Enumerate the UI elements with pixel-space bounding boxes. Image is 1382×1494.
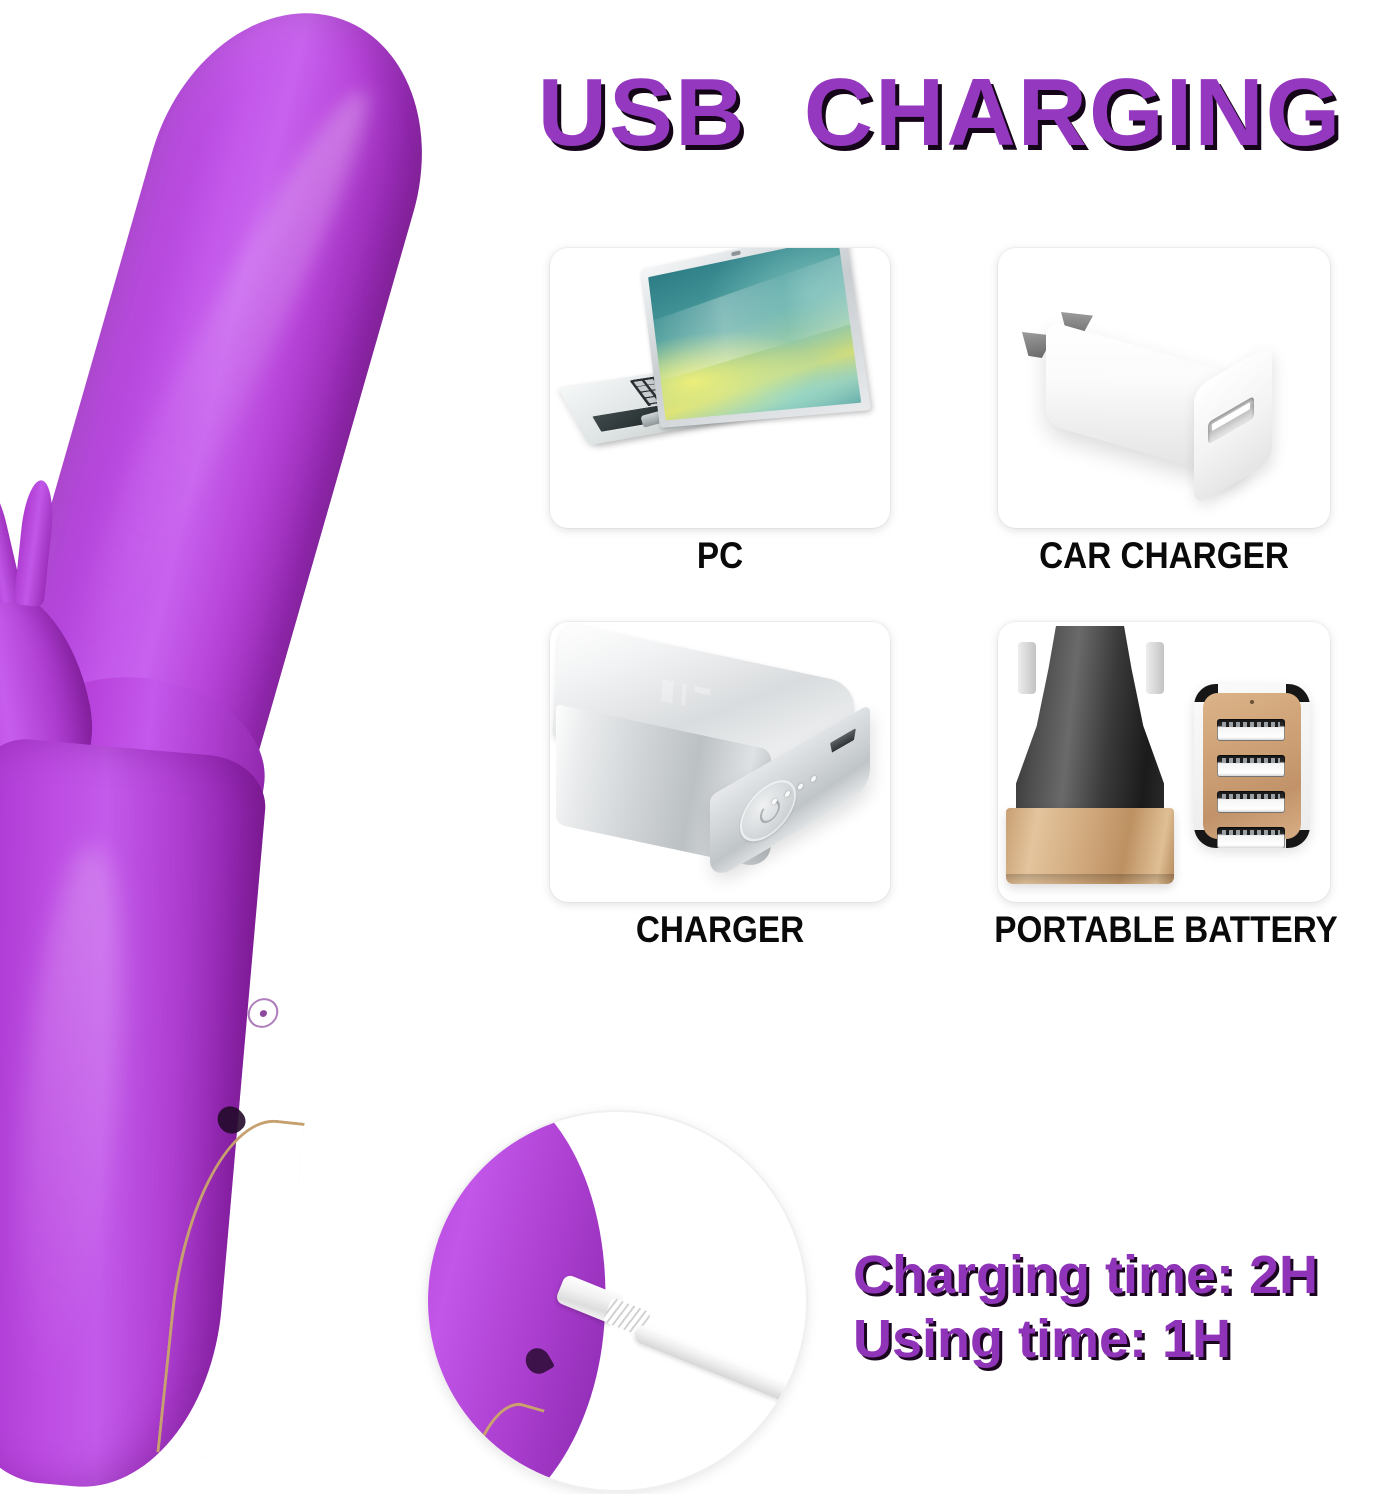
card-pc[interactable] xyxy=(550,248,890,528)
card-label-car-charger: CAR CHARGER xyxy=(1003,535,1325,577)
car-charger-contact-clip-left xyxy=(1018,642,1036,694)
using-time-line: Using time: 1H xyxy=(853,1307,1373,1371)
charging-time-line: Charging time: 2H xyxy=(853,1243,1373,1307)
product-photo xyxy=(0,0,390,1494)
laptop-webcam-icon xyxy=(731,250,741,256)
card-label-charger: CHARGER xyxy=(567,909,873,951)
car-charger-gold-plate xyxy=(1203,693,1301,839)
micro-usb-port-icon xyxy=(830,728,856,754)
car-charger-front-view xyxy=(1194,684,1310,848)
infographic-page: USB CHARGING PC xyxy=(0,0,1382,1494)
laptop-computer-icon xyxy=(550,248,890,528)
car-charger-gold-base xyxy=(1006,808,1174,884)
car-charger-contact-clip-right xyxy=(1146,642,1164,694)
charging-cable xyxy=(632,1323,802,1407)
card-car-charger[interactable] xyxy=(998,248,1330,528)
power-button-icon[interactable] xyxy=(245,997,280,1029)
laptop-screen-wallpaper xyxy=(648,248,861,420)
card-label-portable-battery: PORTABLE BATTERY xyxy=(981,909,1352,951)
product-handle-highlight xyxy=(2,841,139,1367)
car-charger-led-icon xyxy=(1250,700,1254,704)
usb-port-icon-2 xyxy=(1217,755,1285,777)
usb-port-icon-3 xyxy=(1217,791,1285,813)
power-bank-logo xyxy=(661,679,713,711)
car-charger-body xyxy=(1016,626,1164,818)
power-bank-button-icon[interactable] xyxy=(740,769,796,853)
timing-caption-block: Charging time: 2H Using time: 1H xyxy=(853,1243,1373,1371)
usb-port-icon-4 xyxy=(1217,827,1285,848)
card-label-pc: PC xyxy=(567,535,873,577)
laptop-screen-bezel xyxy=(641,248,871,428)
four-port-car-charger-icon xyxy=(998,622,1330,902)
card-portable-battery[interactable] xyxy=(998,622,1330,902)
usb-port-icon-1 xyxy=(1217,719,1285,741)
page-title: USB CHARGING xyxy=(505,58,1375,168)
usb-port-icon xyxy=(1208,396,1254,445)
usb-wall-adapter-icon xyxy=(998,248,1330,528)
card-charger[interactable] xyxy=(550,622,890,902)
silver-power-bank-icon xyxy=(550,622,890,902)
charging-port-closeup-circle xyxy=(428,1112,806,1490)
product-shaft-highlight xyxy=(37,76,396,683)
